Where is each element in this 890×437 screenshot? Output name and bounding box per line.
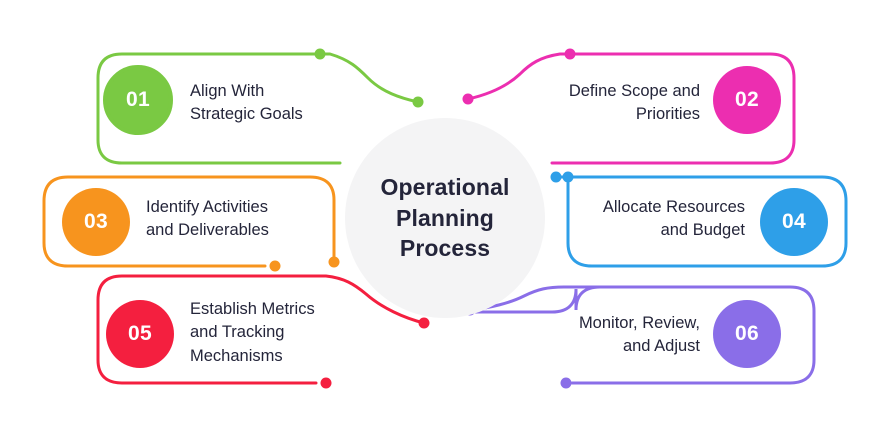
connector-06-dot-end: [561, 378, 572, 389]
connector-02-dot-start: [565, 49, 576, 60]
connector-02-dot-end: [463, 94, 474, 105]
node-01-badge: 01: [103, 65, 173, 135]
node-04-badge: 04: [760, 188, 828, 256]
connector-01-dot-start: [315, 49, 326, 60]
operational-planning-diagram: Operational Planning Process 01 Align Wi…: [0, 0, 890, 437]
connector-01-dot-end: [413, 97, 424, 108]
connector-05-dot-end: [321, 378, 332, 389]
connector-03-dot-end: [270, 261, 281, 272]
node-02-badge: 02: [713, 66, 781, 134]
connector-04-dot-start: [551, 172, 562, 183]
connector-04-dot-end: [563, 172, 574, 183]
node-04-number: 04: [782, 210, 806, 234]
node-05-label: Establish Metrics and Tracking Mechanism…: [190, 298, 390, 368]
node-02-number: 02: [735, 88, 759, 112]
center-hub-title: Operational Planning Process: [381, 172, 510, 263]
connector-05-dot-start: [419, 318, 430, 329]
center-hub: Operational Planning Process: [345, 118, 545, 318]
node-06-number: 06: [735, 322, 759, 346]
node-03-number: 03: [84, 210, 108, 234]
node-01-label: Align With Strategic Goals: [190, 80, 380, 127]
node-05-badge: 05: [106, 300, 174, 368]
node-06-badge: 06: [713, 300, 781, 368]
node-06-label: Monitor, Review, and Adjust: [510, 312, 700, 359]
node-05-number: 05: [128, 322, 152, 346]
node-03-badge: 03: [62, 188, 130, 256]
node-03-label: Identify Activities and Deliverables: [146, 196, 346, 243]
node-01-number: 01: [126, 88, 150, 112]
connector-03-dot-start: [329, 257, 340, 268]
node-04-label: Allocate Resources and Budget: [540, 196, 745, 243]
node-02-label: Define Scope and Priorities: [510, 80, 700, 127]
